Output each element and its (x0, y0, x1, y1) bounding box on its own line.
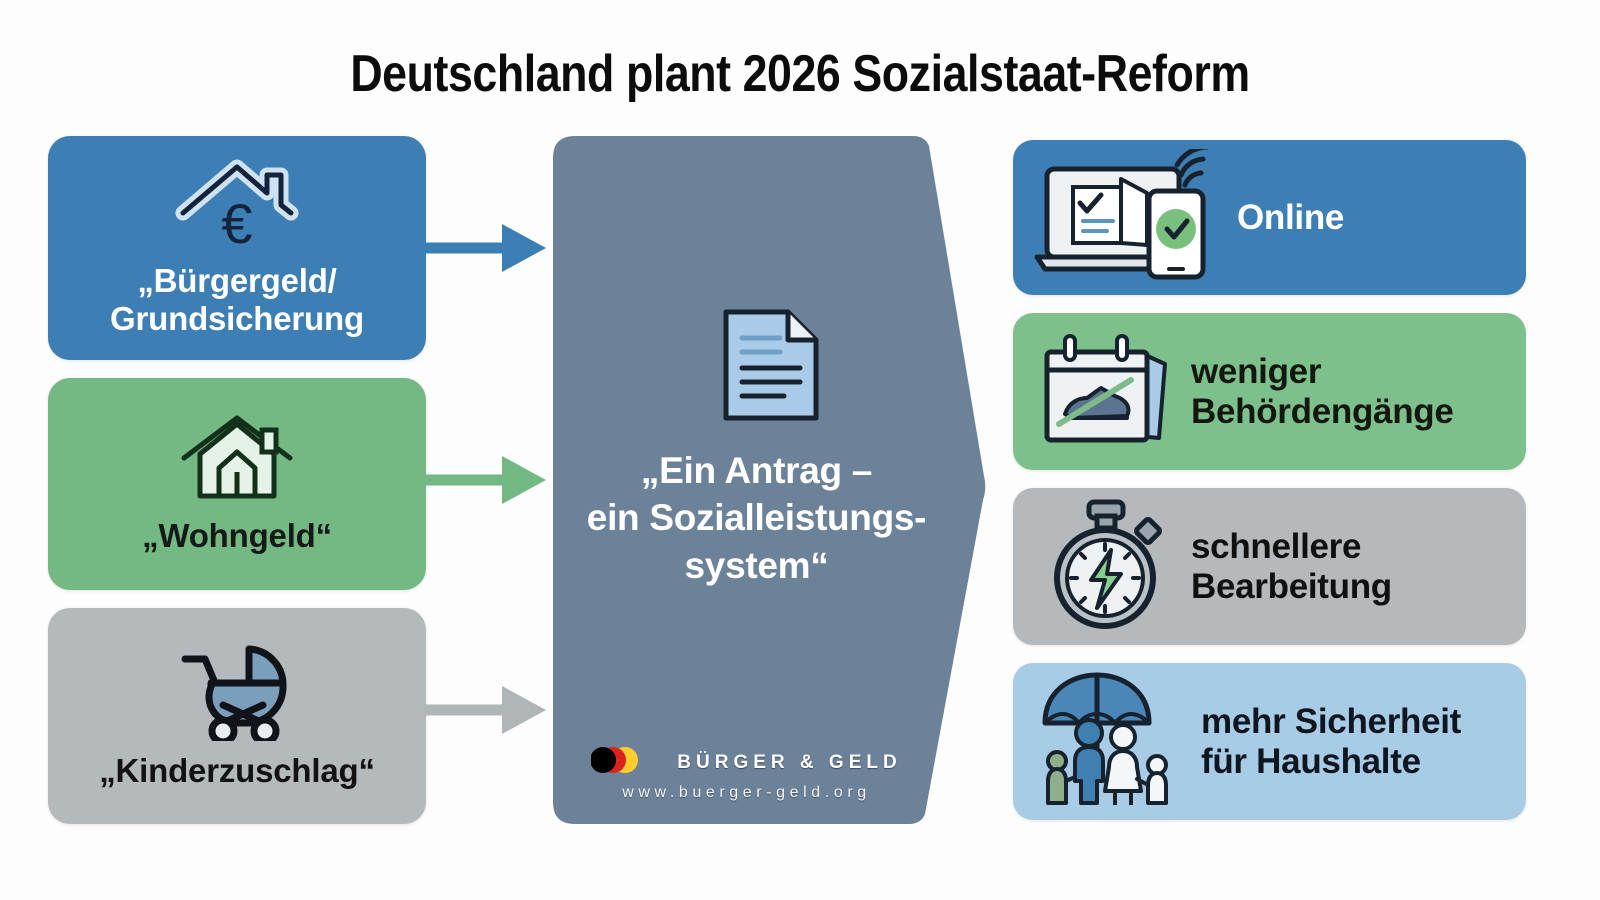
benefit-card-schnellere-bearbeitung[interactable]: schnellere Bearbeitung (1013, 488, 1526, 645)
baby-stroller-icon (171, 639, 303, 746)
page-title: Deutschland plant 2026 Sozialstaat-Refor… (112, 44, 1488, 104)
laptop-smartphone-wifi-icon (1031, 149, 1227, 286)
brand-block: BÜRGER & GELD www.buerger-geld.org (553, 746, 940, 802)
central-system-panel: „Ein Antrag – ein Sozialleistungs- syste… (553, 136, 988, 824)
svg-text:€: € (221, 192, 252, 251)
label-line-1: Online (1237, 198, 1344, 237)
benefit-card-label: Online (1237, 198, 1344, 237)
label-line-1: „Wohngeld“ (142, 517, 332, 554)
arrow-wohngeld-to-center (424, 452, 552, 508)
arrow-buergergeld-to-center (424, 220, 552, 276)
headline-line-1: „Ein Antrag – (641, 450, 872, 491)
german-flag-dots-icon (591, 746, 663, 779)
label-line-1: „Bürgergeld/ (137, 262, 336, 299)
input-card-label: „Kinderzuschlag“ (99, 752, 375, 790)
calendar-no-walking-icon (1031, 326, 1181, 457)
house-euro-icon: € (171, 155, 303, 256)
house-icon (174, 410, 300, 511)
headline-line-2: ein Sozialleistungs- (587, 497, 926, 538)
headline-line-3: system“ (685, 545, 829, 586)
benefit-card-online[interactable]: Online (1013, 140, 1526, 295)
input-card-label: „Wohngeld“ (142, 517, 332, 555)
benefit-card-label: mehr Sicherheit für Haushalte (1201, 702, 1461, 780)
label-line-1: „Kinderzuschlag“ (99, 752, 375, 789)
input-card-wohngeld[interactable]: „Wohngeld“ (48, 378, 426, 590)
label-line-2: Grundsicherung (110, 300, 364, 337)
input-card-kinderzuschlag[interactable]: „Kinderzuschlag“ (48, 608, 426, 824)
label-line-2: für Haushalte (1201, 742, 1421, 781)
benefit-card-label: schnellere Bearbeitung (1191, 527, 1392, 605)
stopwatch-bolt-icon (1031, 496, 1181, 637)
brand-url[interactable]: www.buerger-geld.org (622, 784, 871, 802)
arrow-kinderzuschlag-to-center (424, 682, 552, 738)
label-line-2: Behördengänge (1191, 392, 1454, 431)
label-line-1: weniger (1191, 352, 1321, 391)
label-line-1: mehr Sicherheit (1201, 702, 1461, 741)
benefit-card-mehr-sicherheit[interactable]: mehr Sicherheit für Haushalte (1013, 663, 1526, 820)
benefit-card-label: weniger Behördengänge (1191, 352, 1454, 430)
input-card-label: „Bürgergeld/ Grundsicherung (110, 262, 364, 337)
brand-name: BÜRGER & GELD (677, 752, 901, 774)
center-headline: „Ein Antrag – ein Sozialleistungs- syste… (571, 447, 971, 589)
benefit-card-weniger-behoerdengaenge[interactable]: weniger Behördengänge (1013, 313, 1526, 470)
infographic-canvas: Deutschland plant 2026 Sozialstaat-Refor… (0, 0, 1600, 900)
document-icon (718, 306, 824, 429)
input-card-buergergeld[interactable]: € „Bürgergeld/ Grundsicherung (48, 136, 426, 360)
label-line-1: schnellere (1191, 527, 1361, 566)
family-umbrella-icon (1031, 669, 1191, 814)
label-line-2: Bearbeitung (1191, 567, 1392, 606)
